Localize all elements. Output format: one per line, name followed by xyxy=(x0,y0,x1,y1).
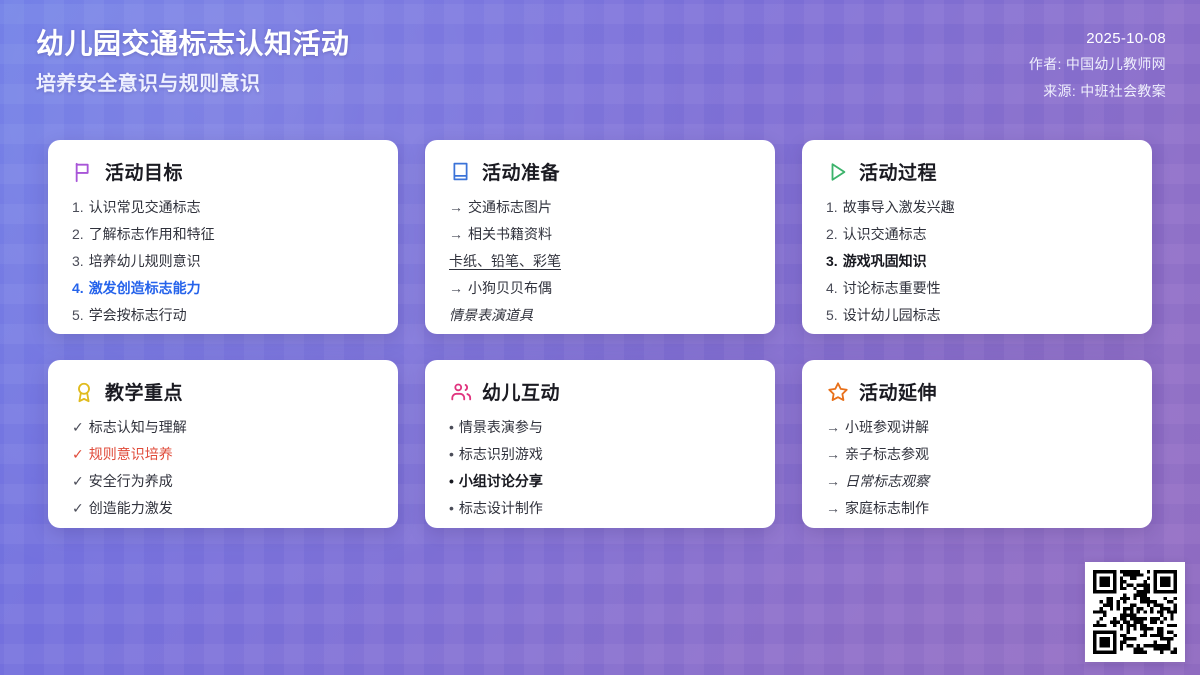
card-list: •情景表演参与•标志识别游戏•小组讨论分享•标志设计制作 xyxy=(449,414,751,522)
star-icon xyxy=(826,380,849,403)
card-list: →交通标志图片→相关书籍资料卡纸、铅笔、彩笔→小狗贝贝布偶情景表演道具 xyxy=(449,194,751,329)
list-item: •标志识别游戏 xyxy=(449,441,751,468)
card-title: 活动延伸 xyxy=(859,378,937,405)
card-extension: 活动延伸→小班参观讲解→亲子标志参观→日常标志观察→家庭标志制作 xyxy=(802,360,1152,528)
card-process: 活动过程1.故事导入激发兴趣2.认识交通标志3.游戏巩固知识4.讨论标志重要性5… xyxy=(802,140,1152,334)
play-icon xyxy=(826,160,849,183)
list-item-marker: 5. xyxy=(826,305,838,326)
date-label: 2025-10-08 xyxy=(1086,30,1166,47)
list-item-label: 认识常见交通标志 xyxy=(89,197,201,218)
medal-icon xyxy=(72,380,95,403)
list-item-marker: → xyxy=(826,471,840,492)
list-item-label: 情景表演道具 xyxy=(449,305,533,326)
list-item: 4.讨论标志重要性 xyxy=(826,275,1128,302)
list-item-marker: 2. xyxy=(72,224,84,245)
card-header: 幼儿互动 xyxy=(449,378,751,405)
card-header: 活动过程 xyxy=(826,158,1128,185)
list-item: 2.了解标志作用和特征 xyxy=(72,221,374,248)
list-item-marker: • xyxy=(449,498,454,519)
list-item-label: 标志认知与理解 xyxy=(89,417,187,438)
card-header: 活动延伸 xyxy=(826,378,1128,405)
qr-code-box xyxy=(1085,562,1185,662)
page-subtitle: 培养安全意识与规则意识 xyxy=(36,71,350,97)
card-objectives: 活动目标1.认识常见交通标志2.了解标志作用和特征3.培养幼儿规则意识4.激发创… xyxy=(48,140,398,334)
card-interaction: 幼儿互动•情景表演参与•标志识别游戏•小组讨论分享•标志设计制作 xyxy=(425,360,775,528)
list-item: 卡纸、铅笔、彩笔 xyxy=(449,248,751,275)
list-item: 1.故事导入激发兴趣 xyxy=(826,194,1128,221)
list-item-marker: ✓ xyxy=(72,417,84,438)
card-title: 活动目标 xyxy=(105,158,183,185)
list-item-label: 培养幼儿规则意识 xyxy=(89,251,201,272)
list-item-marker: ✓ xyxy=(72,444,84,465)
list-item: 5.设计幼儿园标志 xyxy=(826,302,1128,329)
list-item: 4.激发创造标志能力 xyxy=(72,275,374,302)
list-item-label: 讨论标志重要性 xyxy=(843,278,941,299)
card-grid: 活动目标1.认识常见交通标志2.了解标志作用和特征3.培养幼儿规则意识4.激发创… xyxy=(48,140,1152,528)
list-item: 2.认识交通标志 xyxy=(826,221,1128,248)
list-item-label: 小班参观讲解 xyxy=(845,417,929,438)
list-item: 情景表演道具 xyxy=(449,302,751,329)
list-item: •情景表演参与 xyxy=(449,414,751,441)
card-header: 教学重点 xyxy=(72,378,374,405)
list-item-marker: 3. xyxy=(72,251,84,272)
list-item-marker: 5. xyxy=(72,305,84,326)
list-item: ✓标志认知与理解 xyxy=(72,414,374,441)
card-title: 活动准备 xyxy=(482,158,560,185)
list-item-marker: 3. xyxy=(826,251,838,272)
list-item: ✓安全行为养成 xyxy=(72,468,374,495)
list-item-label: 创造能力激发 xyxy=(89,498,173,519)
card-list: 1.故事导入激发兴趣2.认识交通标志3.游戏巩固知识4.讨论标志重要性5.设计幼… xyxy=(826,194,1128,329)
list-item-label: 标志识别游戏 xyxy=(459,444,543,465)
users-icon xyxy=(449,380,472,403)
list-item-marker: • xyxy=(449,444,454,465)
list-item-marker: → xyxy=(449,197,463,218)
list-item: →小狗贝贝布偶 xyxy=(449,275,751,302)
list-item: 5.学会按标志行动 xyxy=(72,302,374,329)
list-item: ✓创造能力激发 xyxy=(72,495,374,522)
list-item: ✓规则意识培养 xyxy=(72,441,374,468)
page-header: 幼儿园交通标志认知活动 培养安全意识与规则意识 2025-10-08 作者: 中… xyxy=(0,0,1200,128)
card-preparation: 活动准备→交通标志图片→相关书籍资料卡纸、铅笔、彩笔→小狗贝贝布偶情景表演道具 xyxy=(425,140,775,334)
card-title: 活动过程 xyxy=(859,158,937,185)
list-item-label: 情景表演参与 xyxy=(459,417,543,438)
source-label: 来源: 中班社会教案 xyxy=(1043,81,1166,101)
list-item-label: 安全行为养成 xyxy=(89,471,173,492)
list-item: →日常标志观察 xyxy=(826,468,1128,495)
list-item-marker: ✓ xyxy=(72,498,84,519)
list-item: •小组讨论分享 xyxy=(449,468,751,495)
list-item-marker: 1. xyxy=(72,197,84,218)
list-item-marker: 2. xyxy=(826,224,838,245)
list-item-label: 小组讨论分享 xyxy=(459,471,543,492)
list-item-label: 故事导入激发兴趣 xyxy=(843,197,955,218)
list-item-label: 设计幼儿园标志 xyxy=(843,305,941,326)
list-item-marker: 4. xyxy=(72,278,84,299)
list-item-marker: → xyxy=(826,417,840,438)
list-item-label: 小狗贝贝布偶 xyxy=(468,278,552,299)
card-key-points: 教学重点✓标志认知与理解✓规则意识培养✓安全行为养成✓创造能力激发 xyxy=(48,360,398,528)
list-item: 3.游戏巩固知识 xyxy=(826,248,1128,275)
card-header: 活动准备 xyxy=(449,158,751,185)
list-item-label: 标志设计制作 xyxy=(459,498,543,519)
list-item-label: 规则意识培养 xyxy=(89,444,173,465)
list-item-marker: • xyxy=(449,471,454,492)
card-title: 教学重点 xyxy=(105,378,183,405)
list-item-marker: → xyxy=(449,224,463,245)
list-item-label: 卡纸、铅笔、彩笔 xyxy=(449,251,561,272)
list-item-label: 亲子标志参观 xyxy=(845,444,929,465)
list-item: 3.培养幼儿规则意识 xyxy=(72,248,374,275)
list-item-label: 学会按标志行动 xyxy=(89,305,187,326)
list-item-label: 游戏巩固知识 xyxy=(843,251,927,272)
list-item-label: 家庭标志制作 xyxy=(845,498,929,519)
page-title: 幼儿园交通标志认知活动 xyxy=(36,26,350,62)
list-item-label: 了解标志作用和特征 xyxy=(89,224,215,245)
list-item-marker: • xyxy=(449,417,454,438)
qr-code xyxy=(1093,570,1177,654)
list-item-label: 交通标志图片 xyxy=(468,197,552,218)
list-item: →小班参观讲解 xyxy=(826,414,1128,441)
card-list: 1.认识常见交通标志2.了解标志作用和特征3.培养幼儿规则意识4.激发创造标志能… xyxy=(72,194,374,329)
list-item-label: 日常标志观察 xyxy=(845,471,929,492)
card-header: 活动目标 xyxy=(72,158,374,185)
flag-icon xyxy=(72,160,95,183)
card-list: →小班参观讲解→亲子标志参观→日常标志观察→家庭标志制作 xyxy=(826,414,1128,522)
card-list: ✓标志认知与理解✓规则意识培养✓安全行为养成✓创造能力激发 xyxy=(72,414,374,522)
list-item: 1.认识常见交通标志 xyxy=(72,194,374,221)
list-item-marker: → xyxy=(826,444,840,465)
list-item: →交通标志图片 xyxy=(449,194,751,221)
list-item: →亲子标志参观 xyxy=(826,441,1128,468)
list-item: →家庭标志制作 xyxy=(826,495,1128,522)
title-block: 幼儿园交通标志认知活动 培养安全意识与规则意识 xyxy=(36,26,350,97)
list-item-marker: 1. xyxy=(826,197,838,218)
header-meta: 2025-10-08 作者: 中国幼儿教师网 来源: 中班社会教案 xyxy=(1029,26,1166,101)
list-item-label: 认识交通标志 xyxy=(843,224,927,245)
list-item: →相关书籍资料 xyxy=(449,221,751,248)
list-item-label: 相关书籍资料 xyxy=(468,224,552,245)
author-label: 作者: 中国幼儿教师网 xyxy=(1029,54,1166,74)
list-item-marker: → xyxy=(826,498,840,519)
book-icon xyxy=(449,160,472,183)
list-item-marker: → xyxy=(449,278,463,299)
list-item-marker: ✓ xyxy=(72,471,84,492)
list-item: •标志设计制作 xyxy=(449,495,751,522)
list-item-label: 激发创造标志能力 xyxy=(89,278,201,299)
list-item-marker: 4. xyxy=(826,278,838,299)
card-title: 幼儿互动 xyxy=(482,378,560,405)
